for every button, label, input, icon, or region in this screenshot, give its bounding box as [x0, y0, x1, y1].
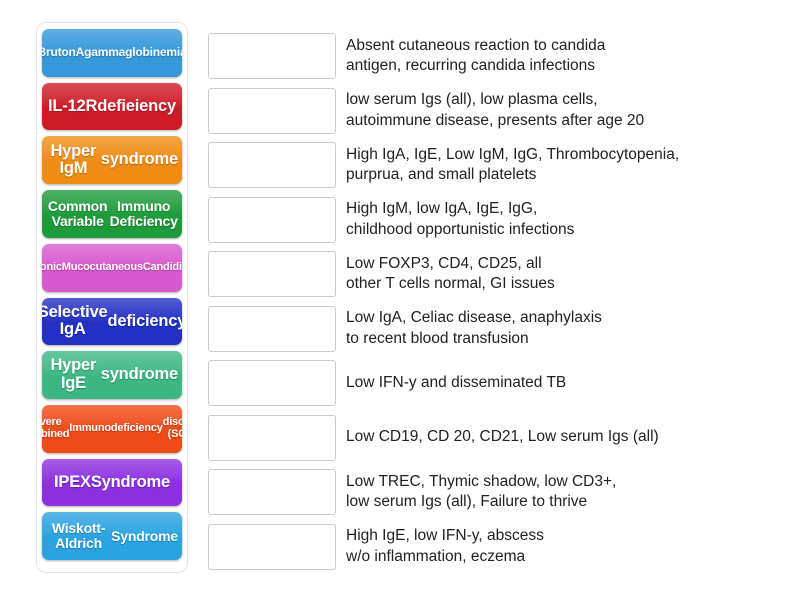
drop-zone[interactable]: [208, 251, 336, 297]
clue-text: Low IFN-y and disseminated TB: [346, 360, 786, 406]
clue-text-line: High IgE, low IFN-y, abscess: [346, 526, 786, 546]
answer-tile-label-line: IL-12R: [48, 98, 97, 116]
clue-text: Absent cutaneous reaction to candidaanti…: [346, 33, 786, 79]
answer-tile-tray: BrutonAgammaglobinemiaIL-12RdefieiencyHy…: [36, 22, 188, 573]
answer-tile-label-line: Chronic: [42, 262, 62, 274]
clue-text-line: Low IFN-y and disseminated TB: [346, 373, 786, 393]
drop-zone[interactable]: [208, 524, 336, 570]
clue-text: Low CD19, CD 20, CD21, Low serum Igs (al…: [346, 415, 786, 461]
drop-zone[interactable]: [208, 197, 336, 243]
drop-zone[interactable]: [208, 306, 336, 352]
answer-tile[interactable]: Common VariableImmuno Deficiency: [42, 190, 182, 238]
drop-zone[interactable]: [208, 415, 336, 461]
drop-zone[interactable]: [208, 142, 336, 188]
clue-text-line: low serum Igs (all), low plasma cells,: [346, 90, 786, 110]
clue-text: Low IgA, Celiac disease, anaphylaxisto r…: [346, 306, 786, 352]
drop-zone[interactable]: [208, 33, 336, 79]
drop-zone[interactable]: [208, 88, 336, 134]
clue-text-line: childhood opportunistic infections: [346, 220, 786, 240]
clue-text-line: other T cells normal, GI issues: [346, 274, 786, 294]
answer-tile-label-line: IPEX: [54, 474, 91, 492]
answer-tile[interactable]: Hyper IgMsyndrome: [42, 136, 182, 184]
clue-text: High IgM, low IgA, IgE, IgG,childhood op…: [346, 197, 786, 243]
answer-tile-label-line: syndrome: [101, 151, 178, 169]
answer-tile[interactable]: BrutonAgammaglobinemia: [42, 29, 182, 77]
clue-text-line: Low CD19, CD 20, CD21, Low serum Igs (al…: [346, 427, 786, 447]
answer-tile[interactable]: Selective IgAdeficiency: [42, 298, 182, 346]
answer-tile-label-line: syndrome: [101, 366, 178, 384]
clue-text: High IgE, low IFN-y, abscessw/o inflamma…: [346, 524, 786, 570]
answer-tile-label-line: disorder (SCID): [163, 417, 182, 441]
answer-tile[interactable]: IL-12Rdefieiency: [42, 83, 182, 131]
answer-tile[interactable]: Hyper IgEsyndrome: [42, 351, 182, 399]
answer-tile[interactable]: ChronicMucocutaneousCandidiasis: [42, 244, 182, 292]
clue-text-line: w/o inflammation, eczema: [346, 547, 786, 567]
clue-text-line: antigen, recurring candida infections: [346, 56, 786, 76]
answer-tile-label-line: Wiskott-Aldrich: [46, 521, 111, 551]
answer-tile[interactable]: Wiskott-AldrichSyndrome: [42, 512, 182, 560]
clue-text-line: to recent blood transfusion: [346, 329, 786, 349]
answer-tile-label-line: Selective IgA: [42, 304, 108, 339]
clue-text: Low FOXP3, CD4, CD25, allother T cells n…: [346, 251, 786, 297]
drop-zone[interactable]: [208, 469, 336, 515]
drop-zone[interactable]: [208, 360, 336, 406]
answer-tile-label-line: Bruton: [42, 46, 76, 59]
clue-text-line: High IgA, IgE, Low IgM, IgG, Thrombocyto…: [346, 145, 786, 165]
answer-tile-label-line: Syndrome: [91, 474, 170, 492]
clue-text-line: Low TREC, Thymic shadow, low CD3+,: [346, 472, 786, 492]
answer-tile-label-line: deficiency: [108, 313, 182, 331]
clue-text-line: Low IgA, Celiac disease, anaphylaxis: [346, 308, 786, 328]
answer-tile[interactable]: IPEXSyndrome: [42, 459, 182, 507]
answer-tile-label-line: Severe combined: [42, 417, 69, 441]
answer-tile-label-line: Hyper IgE: [46, 357, 101, 392]
match-up-activity: BrutonAgammaglobinemiaIL-12RdefieiencyHy…: [0, 0, 800, 600]
answer-tile-label-line: Candidiasis: [143, 262, 182, 274]
clue-text: low serum Igs (all), low plasma cells,au…: [346, 88, 786, 134]
answer-tile-label-line: defieiency: [97, 98, 176, 116]
answer-tile-label-line: Hyper IgM: [46, 143, 101, 178]
answer-tile-label-line: Immuno Deficiency: [109, 199, 178, 229]
clue-text-line: autoimmune disease, presents after age 2…: [346, 111, 786, 131]
clue-text-line: High IgM, low IgA, IgE, IgG,: [346, 199, 786, 219]
answer-tile-label-line: Common Variable: [46, 199, 109, 229]
clue-text-line: purprua, and small platelets: [346, 165, 786, 185]
clue-text-line: Low FOXP3, CD4, CD25, all: [346, 254, 786, 274]
answer-tile-label-line: Mucocutaneous: [62, 262, 143, 274]
answer-tile-label-line: Syndrome: [111, 529, 178, 544]
answer-tile-label-line: Agammaglobinemia: [76, 46, 182, 59]
clue-text: Low TREC, Thymic shadow, low CD3+,low se…: [346, 469, 786, 515]
clue-text: High IgA, IgE, Low IgM, IgG, Thrombocyto…: [346, 142, 786, 188]
clue-text-line: Absent cutaneous reaction to candida: [346, 36, 786, 56]
answer-tile[interactable]: Severe combinedImmunodeficiencydisorder …: [42, 405, 182, 453]
clue-text-line: low serum Igs (all), Failure to thrive: [346, 492, 786, 512]
answer-tile-label-line: Immunodeficiency: [69, 423, 162, 435]
